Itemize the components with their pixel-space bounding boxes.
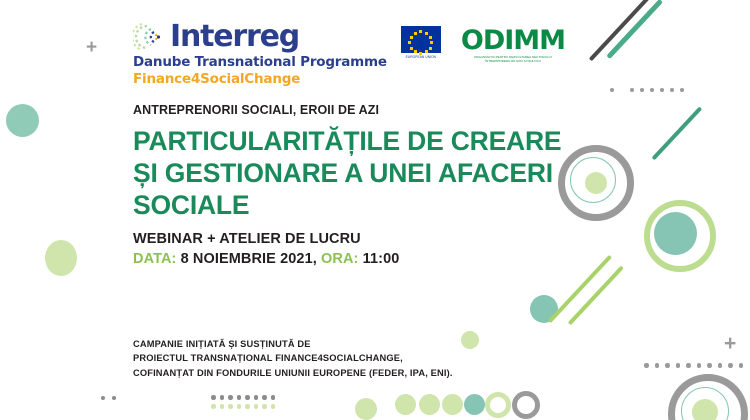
footer-line: COFINANȚAT DIN FONDURILE UNIUNII EUROPEN… [133, 366, 453, 380]
gray-ring-bottom-right [668, 374, 748, 420]
interreg-programme-name: Danube Transnational Programme [133, 55, 387, 70]
interreg-logo: Interreg Danube Transnational Programme … [133, 22, 387, 87]
bottom-circle-2 [419, 394, 440, 415]
event-datetime: DATA: 8 NOIEMBRIE 2021, ORA: 11:00 [133, 249, 399, 269]
teal-thin-ring-bottom-right [681, 387, 729, 420]
date-label: DATA: [133, 251, 176, 267]
green-ring-right [644, 200, 716, 272]
interreg-wordmark: Interreg [170, 22, 299, 52]
green-dot-upper-right [585, 172, 607, 194]
time-label: ORA: [321, 251, 358, 267]
light-green-circle-mid [461, 331, 479, 349]
bottom-circle-1 [395, 394, 416, 415]
date-value: 8 NOIEMBRIE 2021, [181, 251, 317, 267]
bottom-circle-3 [442, 394, 463, 415]
finance4socialchange-label: Finance4SocialChange [133, 72, 387, 87]
dot-row-bottom-right [644, 363, 743, 368]
poster-canvas: + + [0, 0, 750, 420]
kicker-text: ANTREPRENORII SOCIALI, EROII DE AZI [133, 103, 379, 117]
page-title: PARTICULARITĂȚILE DE CREARE ȘI GESTIONAR… [133, 126, 563, 221]
diagonal-teal-right [652, 106, 703, 160]
eu-emblem: EUROPEAN UNION [395, 26, 447, 59]
teal-circle-left [6, 104, 39, 137]
gray-ring-upper-right [558, 145, 634, 221]
plus-icon-left: + [86, 38, 97, 57]
dot-row-top-right [610, 88, 684, 92]
eu-flag-caption: EUROPEAN UNION [395, 55, 447, 59]
event-type: WEBINAR + ATELIER DE LUCRU [133, 229, 399, 249]
teal-thin-ring-upper-right [570, 157, 616, 203]
bottom-left-teal-arc [355, 398, 377, 420]
teal-fill-right [654, 212, 697, 255]
plus-icon-right: + [724, 333, 736, 354]
odimm-subtitle: ORGANIZAȚIA PENTRU DEZVOLTAREA SECTORULU… [461, 56, 565, 64]
light-green-circle-left [45, 240, 77, 276]
dot-grid-gray-row [211, 395, 275, 400]
bottom-ring-gray [512, 391, 540, 419]
dot-pair-left [101, 396, 116, 400]
event-details: WEBINAR + ATELIER DE LUCRU DATA: 8 NOIEM… [133, 229, 399, 270]
bottom-circle-teal [464, 394, 485, 415]
footer-disclaimer: CAMPANIE INIȚIATĂ ȘI SUSȚINUTĂ DE PROIEC… [133, 337, 453, 380]
footer-line: CAMPANIE INIȚIATĂ ȘI SUSȚINUTĂ DE [133, 337, 453, 351]
dot-grid-green-row [211, 404, 275, 409]
odimm-logo: ODIMM ORGANIZAȚIA PENTRU DEZVOLTAREA SEC… [461, 27, 565, 64]
interreg-waves-icon [133, 22, 167, 52]
green-dot-bottom-right [692, 399, 718, 420]
footer-line: PROIECTUL TRANSNAȚIONAL FINANCE4SOCIALCH… [133, 351, 453, 365]
eu-flag-icon [401, 26, 441, 53]
bottom-ring-green [485, 392, 511, 418]
logo-bar: Interreg Danube Transnational Programme … [133, 22, 565, 87]
time-value: 11:00 [363, 251, 400, 267]
odimm-wordmark: ODIMM [461, 27, 565, 54]
